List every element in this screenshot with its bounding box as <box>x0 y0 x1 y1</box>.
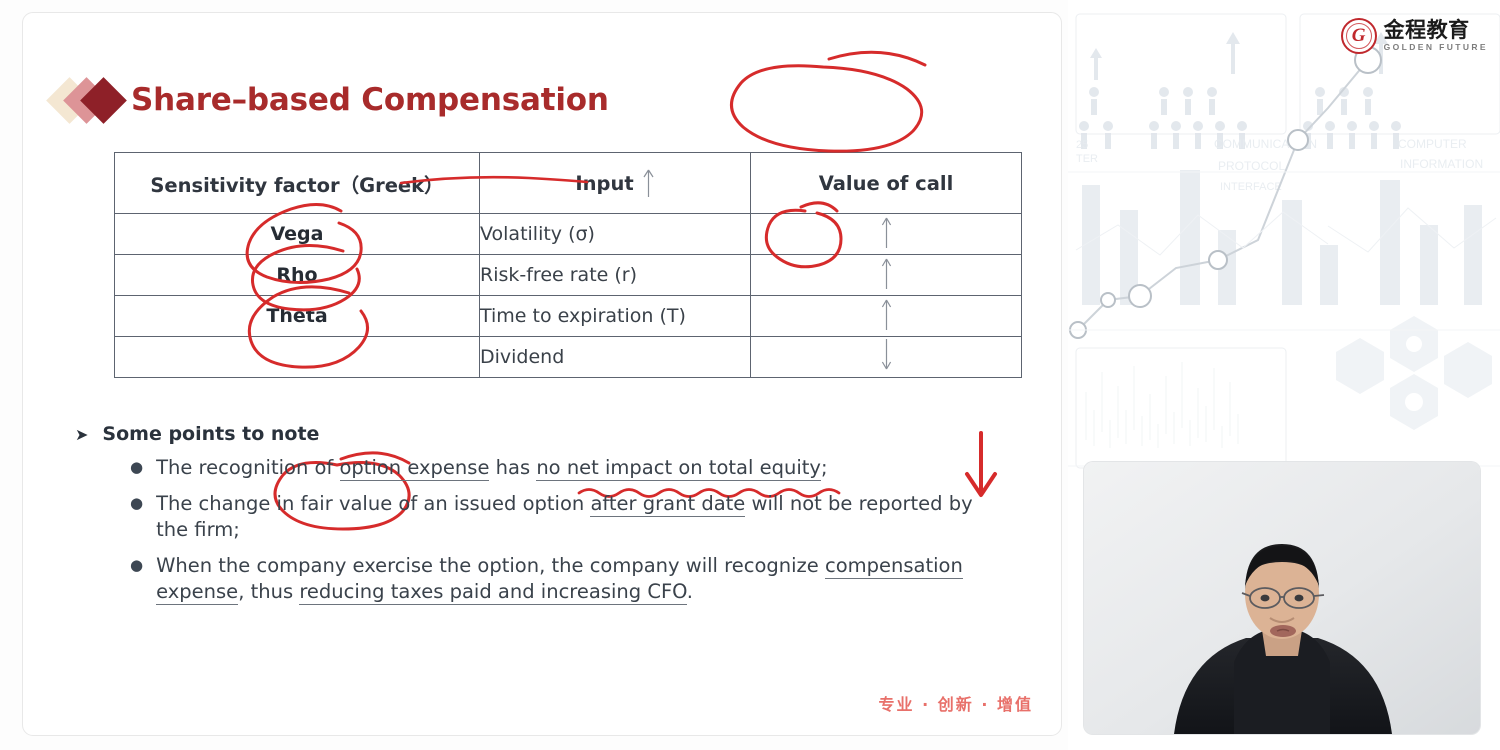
input-cell: Time to expiration (T) <box>480 296 751 337</box>
table-row: ThetaTime to expiration (T) <box>115 296 1022 337</box>
table-row: Dividend <box>115 337 1022 378</box>
note-item: ●When the company exercise the option, t… <box>130 553 1035 605</box>
svg-text:INFORMATION: INFORMATION <box>1400 157 1483 171</box>
note-item: ●The recognition of option expense has n… <box>130 455 1035 481</box>
underlined-phrase: after grant date <box>590 492 745 517</box>
brand-logo: G 金程教育 GOLDEN FUTURE <box>1341 18 1488 54</box>
table-row: VegaVolatility (σ) <box>115 214 1022 255</box>
logo-chinese-name: 金程教育 <box>1384 20 1488 41</box>
header-factor-label: Sensitivity factor（Greek） <box>150 169 443 198</box>
arrow-down-icon <box>880 338 893 376</box>
value-of-call-cell <box>751 296 1022 337</box>
instructor-video-panel[interactable] <box>1084 462 1480 734</box>
value-of-call-cell <box>751 214 1022 255</box>
arrow-bullet-icon: ➤ <box>75 425 88 444</box>
underlined-phrase: reducing taxes paid and increasing CFO <box>299 580 686 605</box>
note-phrase: ; <box>821 456 828 479</box>
greek-cell: Theta <box>115 296 480 337</box>
note-text: The change in fair value of an issued op… <box>156 491 996 543</box>
logo-english-name: GOLDEN FUTURE <box>1384 43 1488 52</box>
notes-section: ➤ Some points to note ●The recognition o… <box>75 423 1035 605</box>
input-cell: Volatility (σ) <box>480 214 751 255</box>
input-cell: Dividend <box>480 337 751 378</box>
note-item: ●The change in fair value of an issued o… <box>130 491 1035 543</box>
three-diamonds-icon <box>53 75 131 125</box>
greek-cell <box>115 337 480 378</box>
arrow-up-icon <box>642 168 655 198</box>
note-phrase: has <box>489 456 536 479</box>
input-cell: Risk-free rate (r) <box>480 255 751 296</box>
page-title: Share–based Compensation <box>131 82 609 118</box>
underlined-phrase: no net impact on total equity <box>536 456 821 481</box>
arrow-up-icon <box>880 215 893 253</box>
header-input-label: Input <box>575 172 633 195</box>
note-text: When the company exercise the option, th… <box>156 553 996 605</box>
dot-bullet-icon: ● <box>130 491 143 543</box>
note-phrase: The change in fair value of an issued op… <box>156 492 590 515</box>
notes-heading: Some points to note <box>102 423 319 445</box>
note-text: The recognition of option expense has no… <box>156 455 827 481</box>
svg-text:PROTOCOL: PROTOCOL <box>1218 159 1285 173</box>
svg-text:INTERFACE: INTERFACE <box>1220 181 1282 193</box>
svg-text:TER: TER <box>1076 153 1098 165</box>
greek-cell: Vega <box>115 214 480 255</box>
footer-slogan: 专业 · 创新 · 增值 <box>879 691 1033 715</box>
table-header-row: Sensitivity factor（Greek） Input Value of… <box>115 153 1022 214</box>
presentation-screen: 25 TER COMMUNICATION PROTOCOL INTERFACE … <box>0 0 1500 750</box>
dot-bullet-icon: ● <box>130 553 143 605</box>
value-of-call-cell <box>751 337 1022 378</box>
arrow-up-icon <box>880 297 893 335</box>
dot-bullet-icon: ● <box>130 455 143 481</box>
arrow-up-icon <box>880 256 893 294</box>
notes-heading-row: ➤ Some points to note <box>75 423 1035 445</box>
value-of-call-cell <box>751 255 1022 296</box>
slide-title-row: Share–based Compensation <box>53 75 609 125</box>
slide-card: Share–based Compensation Sensitivity fac… <box>22 12 1062 736</box>
underlined-phrase: option expense <box>340 456 490 481</box>
note-phrase: The recognition of <box>156 456 339 479</box>
header-sensitivity-factor: Sensitivity factor（Greek） <box>115 153 480 214</box>
seal-g-icon: G <box>1341 18 1377 54</box>
greek-cell: Rho <box>115 255 480 296</box>
header-value-of-call: Value of call <box>751 153 1022 214</box>
sensitivity-table: Sensitivity factor（Greek） Input Value of… <box>114 152 1022 378</box>
note-phrase: , thus <box>238 580 299 603</box>
table-row: RhoRisk-free rate (r) <box>115 255 1022 296</box>
svg-text:COMPUTER: COMPUTER <box>1398 137 1467 151</box>
svg-text:25: 25 <box>1076 139 1088 151</box>
note-phrase: When the company exercise the option, th… <box>156 554 825 577</box>
note-phrase: . <box>687 580 693 603</box>
header-input: Input <box>480 153 751 214</box>
header-value-label: Value of call <box>819 172 954 195</box>
